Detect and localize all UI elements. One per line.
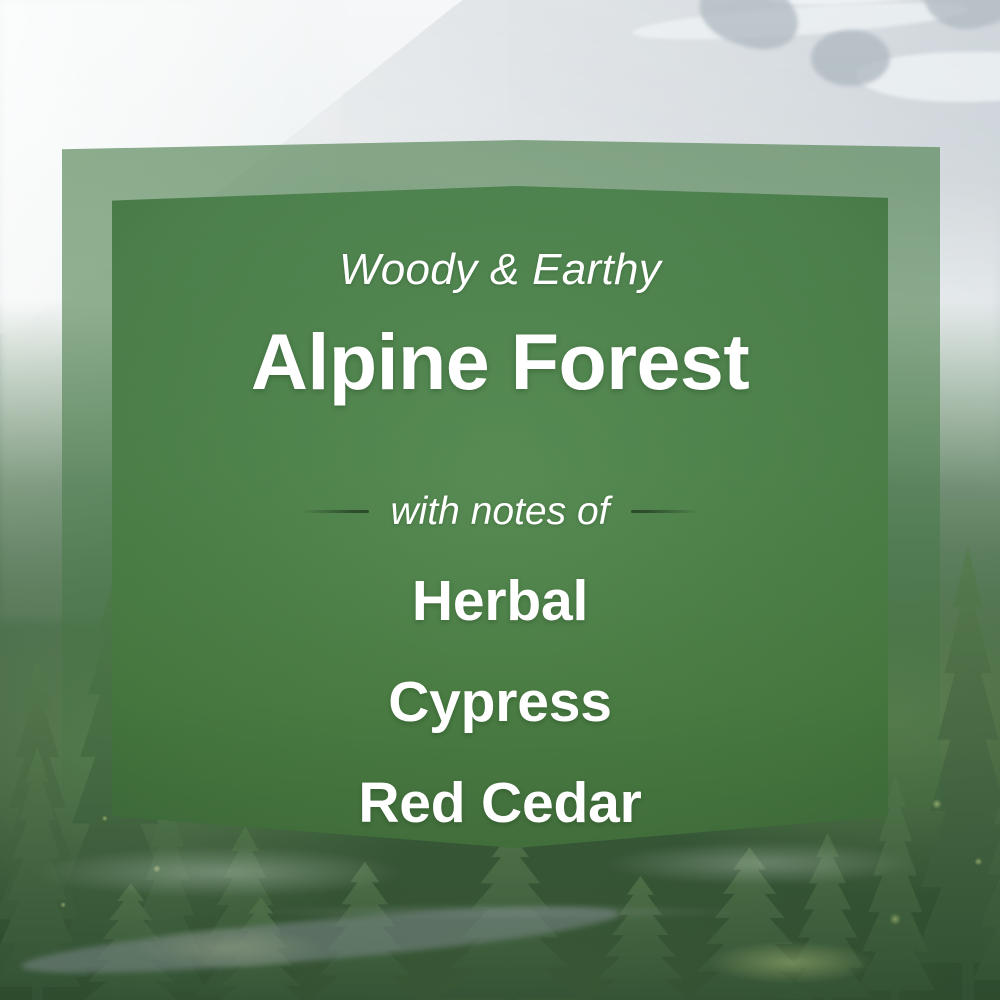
inner-label-panel: Woody & Earthy Alpine Forest with notes … — [112, 186, 888, 848]
list-item: Herbal — [112, 573, 888, 630]
notes-heading: with notes of — [112, 492, 888, 531]
list-item: Red Cedar — [112, 775, 888, 832]
list-item: Cypress — [112, 674, 888, 731]
scent-family-eyebrow: Woody & Earthy — [339, 248, 661, 292]
scent-notes-list: Herbal Cypress Red Cedar — [112, 573, 888, 832]
notes-label: with notes of — [391, 492, 610, 531]
label-content: Woody & Earthy Alpine Forest with notes … — [112, 186, 888, 848]
divider-rule-left — [303, 510, 369, 513]
scent-label-card: Woody & Earthy Alpine Forest with notes … — [0, 0, 1000, 1000]
divider-rule-right — [631, 510, 697, 513]
page-title: Alpine Forest — [251, 322, 749, 401]
